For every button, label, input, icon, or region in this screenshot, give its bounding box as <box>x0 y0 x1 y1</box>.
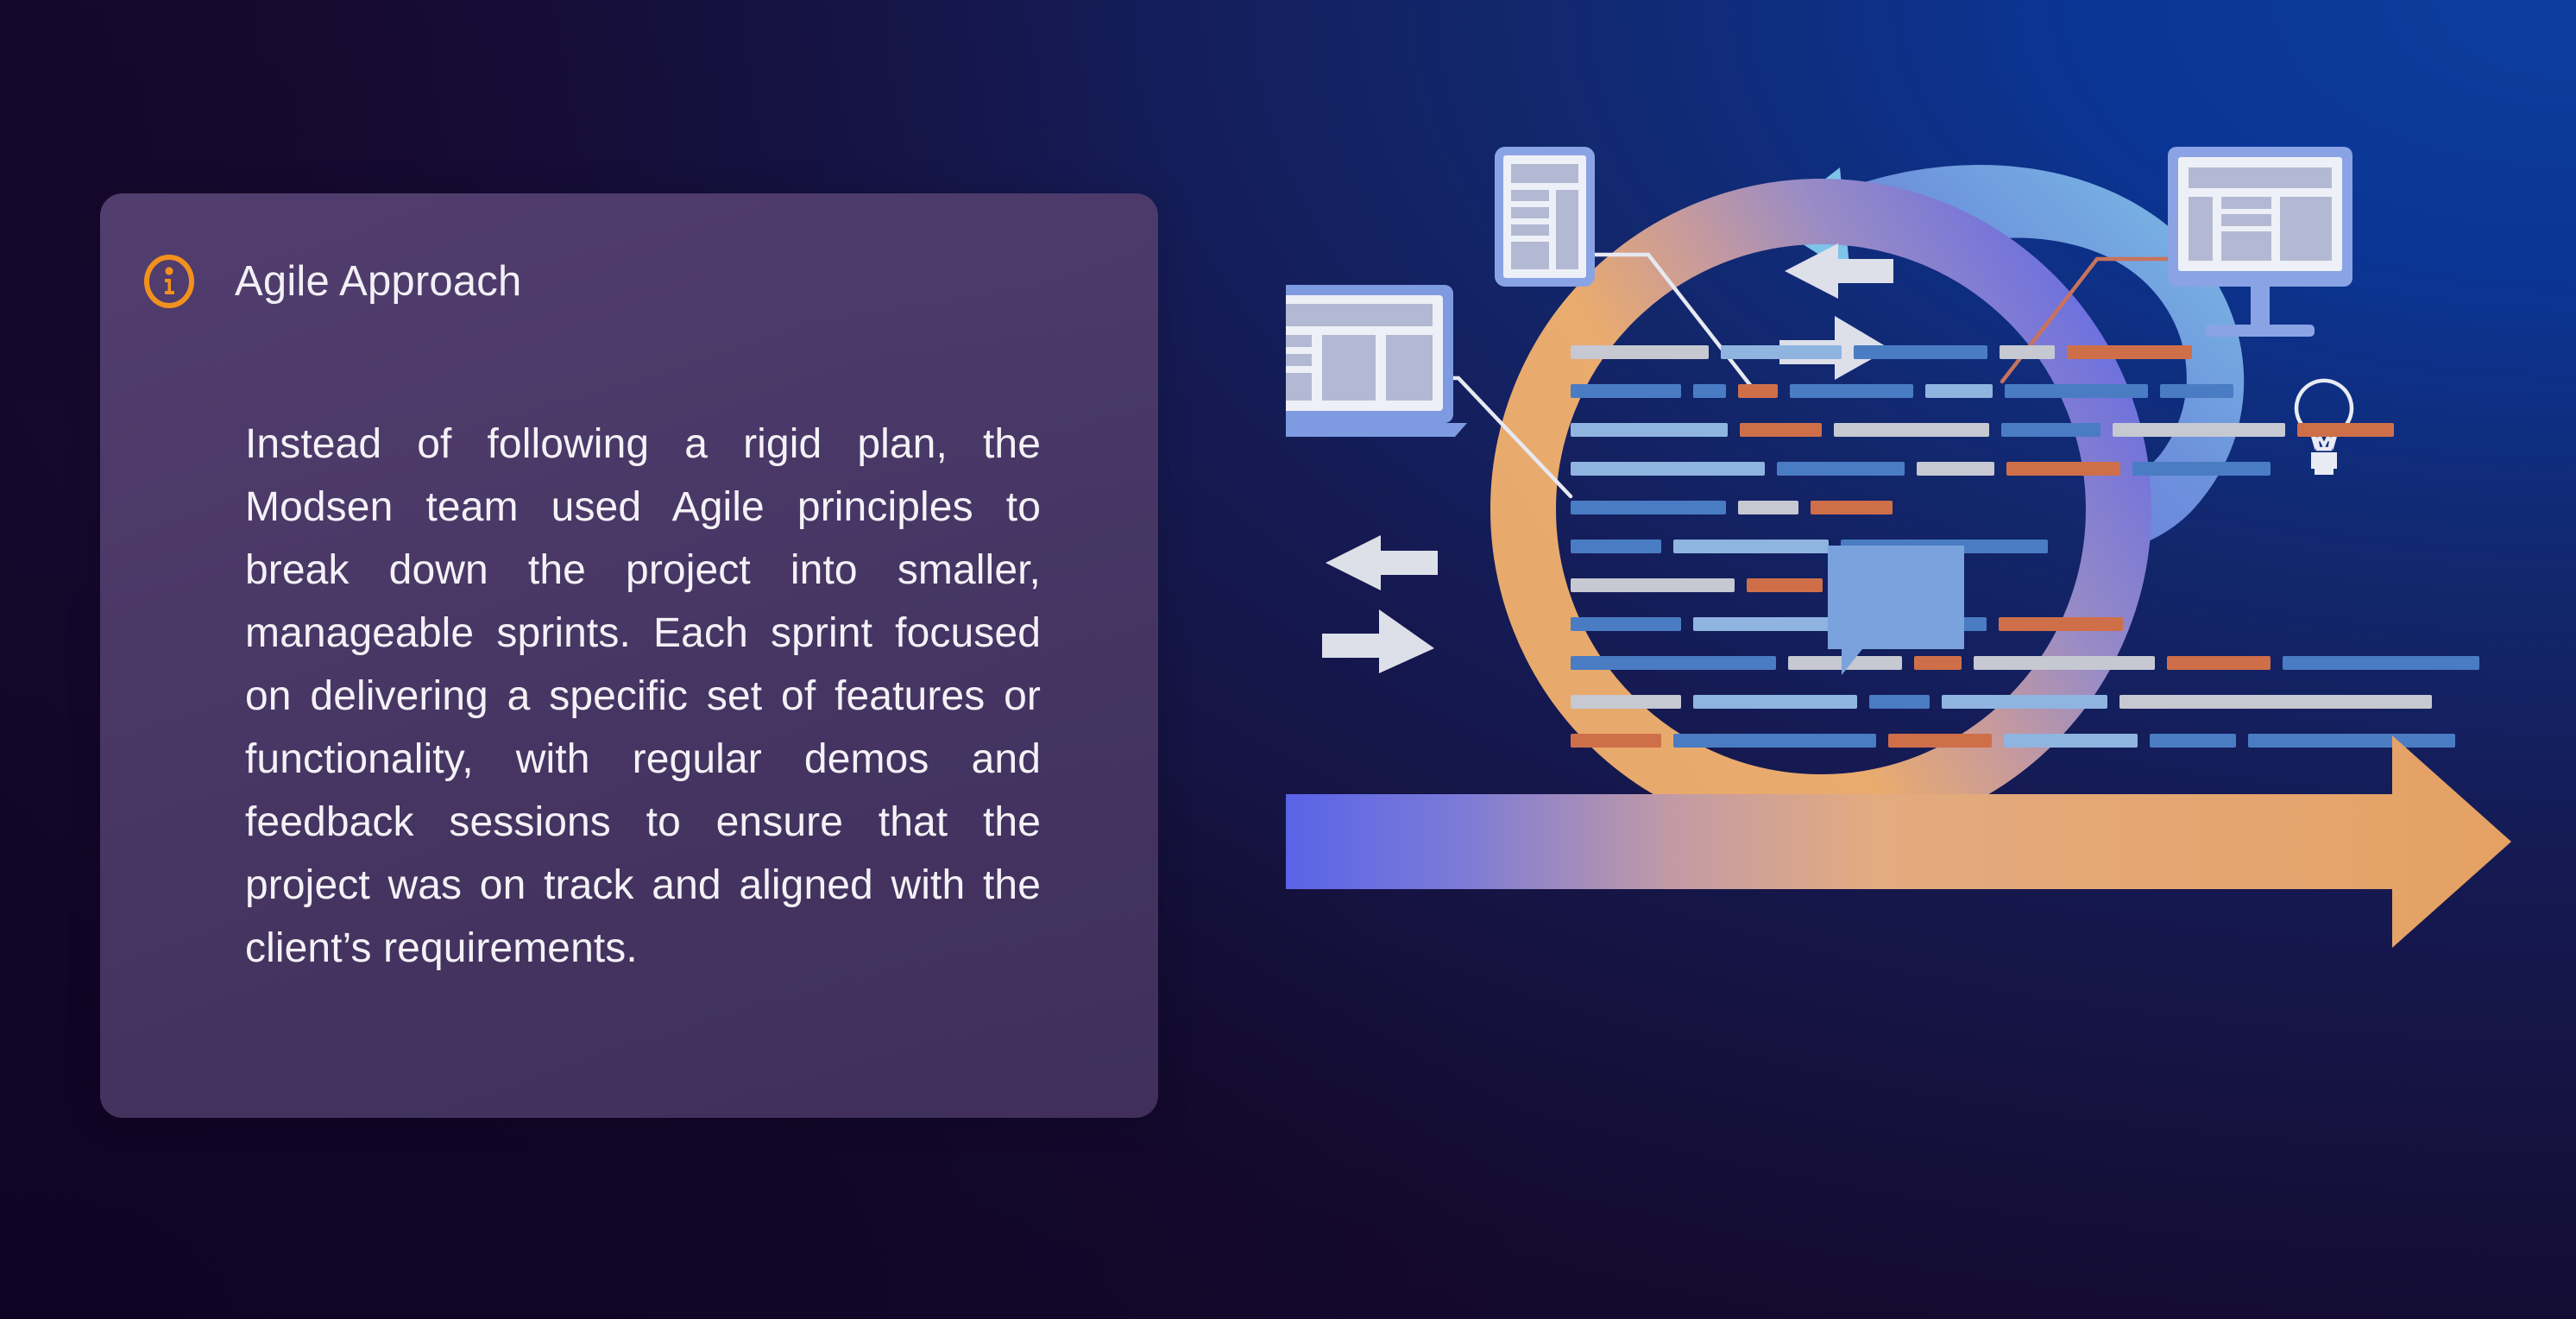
code-line-segment <box>1974 656 2155 670</box>
info-circle-icon <box>142 254 197 309</box>
code-line-segment <box>2132 462 2271 476</box>
code-line-segment <box>1571 656 1776 670</box>
tablet-icon <box>1495 147 1595 287</box>
code-line-segment <box>2004 734 2138 748</box>
code-line-segment <box>1571 345 1709 359</box>
speech-bubble-icon <box>1828 546 1964 675</box>
code-line-segment <box>1693 617 1847 631</box>
code-line-segment <box>1571 462 1765 476</box>
code-line-segment <box>2160 384 2233 398</box>
code-line-segment <box>2283 656 2479 670</box>
code-line-segment <box>1834 423 1989 437</box>
code-line-segment <box>1693 695 1857 709</box>
code-line-segment <box>2167 656 2271 670</box>
code-line-segment <box>1571 501 1726 514</box>
code-line-segment <box>2005 384 2148 398</box>
code-line-segment <box>1790 384 1913 398</box>
code-line-segment <box>1999 617 2123 631</box>
laptop-icon <box>1286 285 1467 437</box>
code-line-segment <box>1738 384 1778 398</box>
agile-approach-card: Agile Approach Instead of following a ri… <box>100 193 1158 1118</box>
code-line-segment <box>1747 578 1823 592</box>
card-header: Agile Approach <box>100 193 1158 309</box>
code-line-segment <box>1888 734 1992 748</box>
code-line-segment <box>1925 384 1993 398</box>
code-line-segment <box>2001 423 2100 437</box>
code-line-segment <box>1942 695 2107 709</box>
code-line-segment <box>1777 462 1905 476</box>
code-line-segment <box>1721 345 1842 359</box>
code-line-segment <box>1571 695 1681 709</box>
code-line-segment <box>2000 345 2055 359</box>
code-line-segment <box>2150 734 2236 748</box>
code-line-segment <box>1854 345 1987 359</box>
code-line-segment <box>1673 540 1829 553</box>
card-body-text: Instead of following a rigid plan, the M… <box>245 413 1041 980</box>
code-line-segment <box>1571 578 1735 592</box>
code-line-segment <box>2113 423 2285 437</box>
code-line-segment <box>1811 501 1893 514</box>
code-line-segment <box>2119 695 2432 709</box>
card-title: Agile Approach <box>235 261 521 303</box>
code-line-segment <box>1869 695 1930 709</box>
code-line-segment <box>2067 345 2192 359</box>
code-line-segment <box>2248 734 2455 748</box>
code-line-segment <box>1738 501 1798 514</box>
agile-cycle-illustration <box>1286 129 2563 1165</box>
exchange-arrows-left <box>1322 535 1438 673</box>
code-line-segment <box>1914 656 1962 670</box>
slide-canvas: Agile Approach Instead of following a ri… <box>0 0 2576 1319</box>
exchange-arrows-top <box>1779 243 1893 380</box>
code-line-segment <box>1917 462 1994 476</box>
code-line-segment <box>2006 462 2120 476</box>
code-line-segment <box>1571 423 1728 437</box>
code-line-segment <box>1571 734 1661 748</box>
code-line-segment <box>1673 734 1876 748</box>
code-line-segment <box>1740 423 1822 437</box>
code-line-segment <box>1571 384 1681 398</box>
code-line-segment <box>1571 617 1681 631</box>
code-line-segment <box>1571 540 1661 553</box>
code-line-segment <box>1693 384 1726 398</box>
code-line-segment <box>2297 423 2394 437</box>
